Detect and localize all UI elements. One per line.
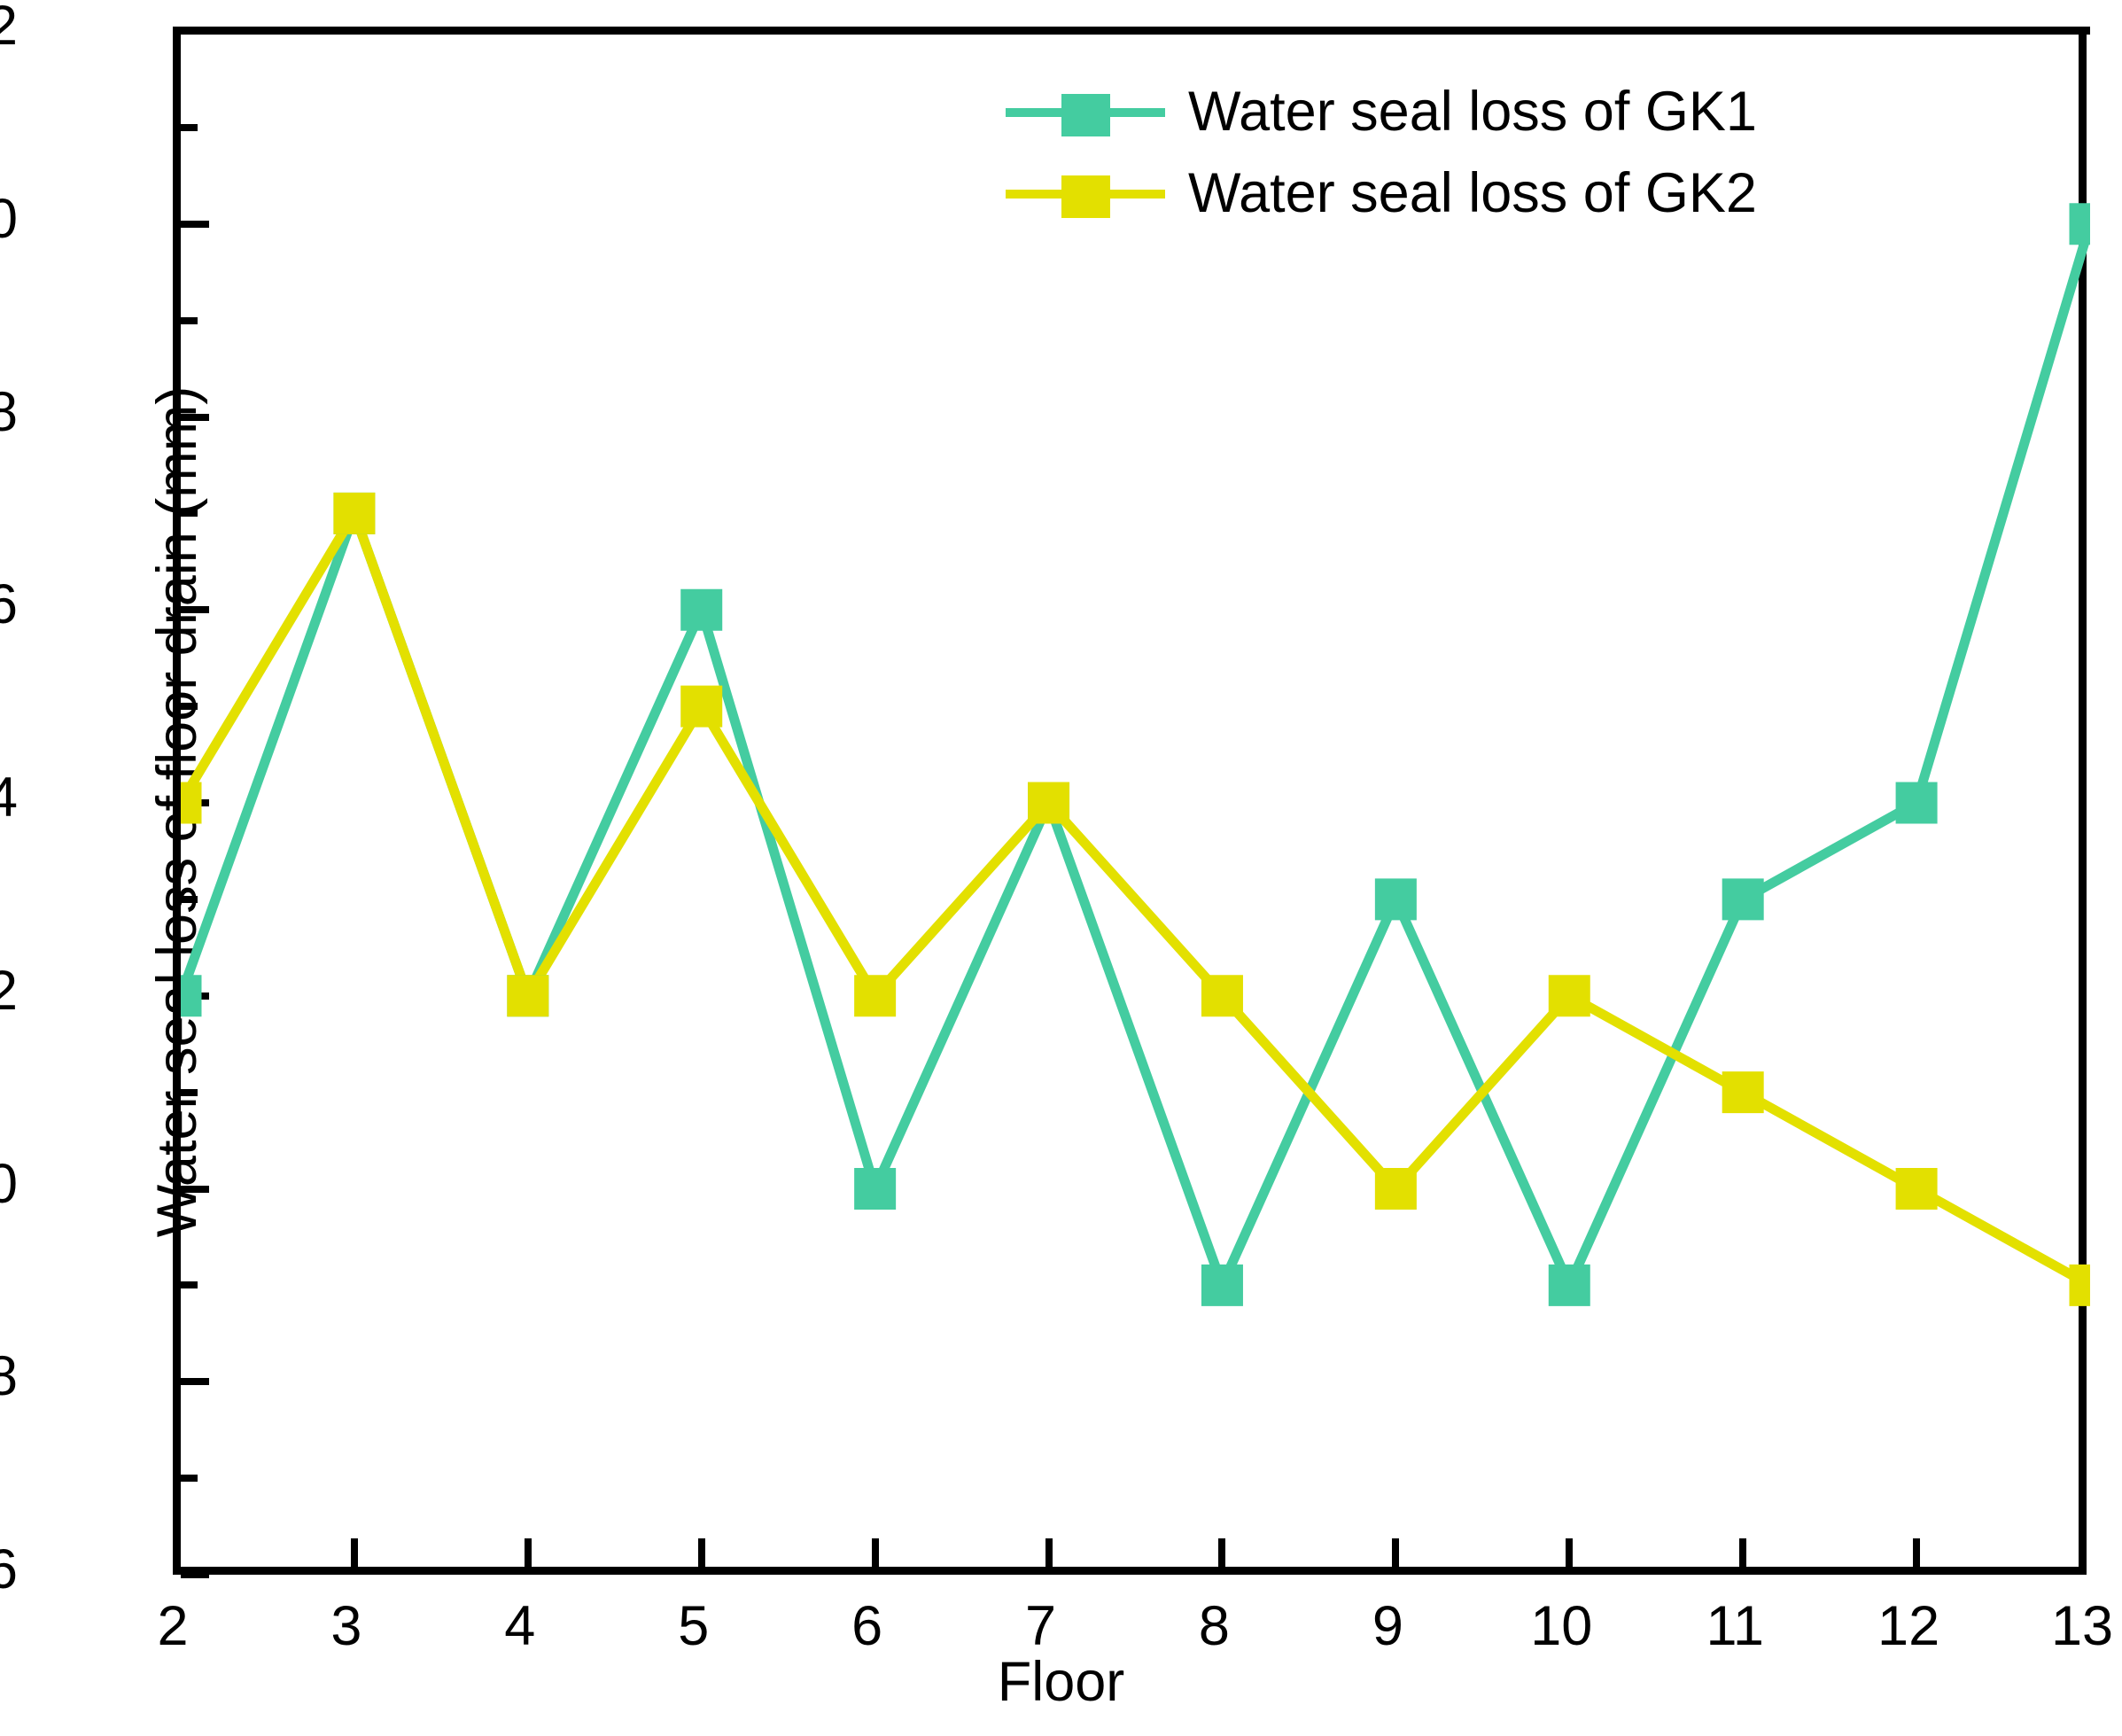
legend-square-marker-icon xyxy=(1061,94,1110,136)
y-tick-label: 20 xyxy=(0,187,18,251)
y-tick-label: 22 xyxy=(0,0,18,58)
data-point-marker xyxy=(181,975,202,1016)
x-tick-label: 3 xyxy=(258,1594,435,1658)
data-point-marker xyxy=(1549,1265,1590,1306)
x-tick-label: 10 xyxy=(1473,1594,1650,1658)
legend-label: Water seal loss of GK1 xyxy=(1188,80,1757,144)
y-tick-label: 8 xyxy=(0,1344,18,1408)
y-tick-label: 14 xyxy=(0,766,18,829)
x-tick-label: 13 xyxy=(1994,1594,2122,1658)
x-tick-label: 2 xyxy=(84,1594,261,1658)
x-tick-label: 12 xyxy=(1820,1594,1997,1658)
legend-swatch-icon xyxy=(1006,94,1165,129)
legend-item-gk2[interactable]: Water seal loss of GK2 xyxy=(1006,152,1757,234)
x-tick-label: 6 xyxy=(779,1594,956,1658)
data-point-marker xyxy=(854,1168,896,1210)
x-axis-title: Floor xyxy=(0,1650,2122,1714)
data-point-marker xyxy=(507,975,548,1016)
legend-swatch-icon xyxy=(1006,175,1165,211)
data-point-marker xyxy=(2070,203,2091,245)
y-tick-label: 10 xyxy=(0,1152,18,1216)
legend-item-gk1[interactable]: Water seal loss of GK1 xyxy=(1006,71,1757,152)
data-point-marker xyxy=(1375,878,1417,920)
y-tick-label: 12 xyxy=(0,959,18,1023)
y-tick-label: 16 xyxy=(0,572,18,636)
y-tick-label: 18 xyxy=(0,380,18,444)
chart-legend: Water seal loss of GK1Water seal loss of… xyxy=(1006,71,1757,234)
data-point-marker xyxy=(181,782,202,824)
x-tick-label: 9 xyxy=(1299,1594,1476,1658)
data-point-marker xyxy=(680,686,722,728)
legend-square-marker-icon xyxy=(1061,175,1110,218)
data-point-marker xyxy=(1896,782,1938,824)
series-canvas xyxy=(181,31,2090,1575)
plot-area xyxy=(173,31,2082,1575)
data-point-marker xyxy=(680,589,722,631)
x-tick-label: 8 xyxy=(1125,1594,1302,1658)
data-point-marker xyxy=(1201,1265,1243,1306)
x-tick-label: 11 xyxy=(1646,1594,1823,1658)
data-point-marker xyxy=(1549,975,1590,1016)
x-tick-label: 4 xyxy=(431,1594,609,1658)
legend-label: Water seal loss of GK2 xyxy=(1188,161,1757,225)
data-point-marker xyxy=(2070,1265,2091,1306)
chart-root: Water seal loss of floor drain (mm) Floo… xyxy=(0,0,2122,1736)
data-point-marker xyxy=(1375,1168,1417,1210)
x-tick-label: 5 xyxy=(605,1594,782,1658)
x-tick-label: 7 xyxy=(952,1594,1130,1658)
data-point-marker xyxy=(1722,1071,1764,1113)
data-point-marker xyxy=(1201,975,1243,1016)
data-point-marker xyxy=(1896,1168,1938,1210)
data-point-marker xyxy=(854,975,896,1016)
series-line-gk2 xyxy=(181,513,2090,1285)
data-point-marker xyxy=(333,493,375,534)
data-point-marker xyxy=(1722,878,1764,920)
data-point-marker xyxy=(1028,782,1069,824)
y-tick-label: 6 xyxy=(0,1537,18,1601)
